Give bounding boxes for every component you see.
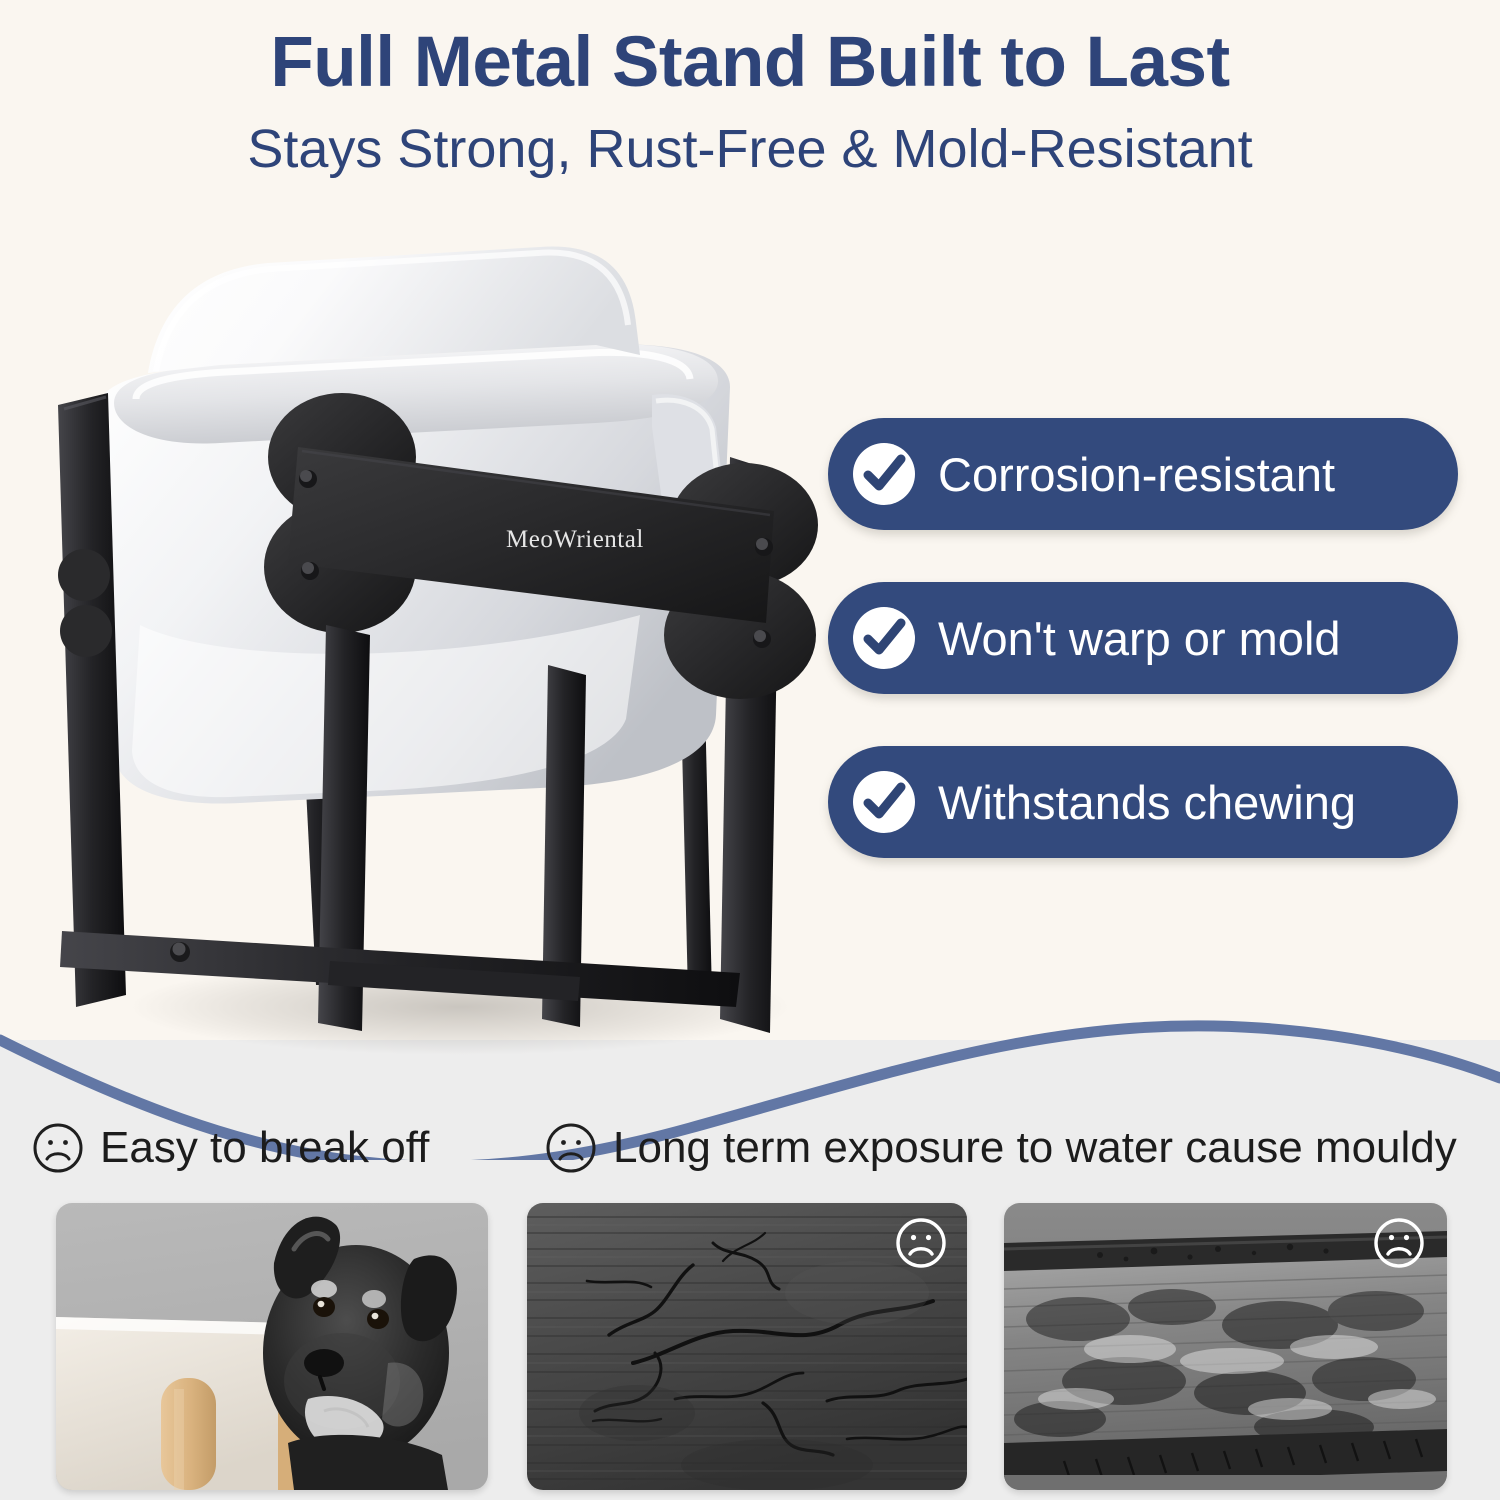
drawback-callout-label: Easy to break off — [100, 1123, 429, 1173]
check-icon — [852, 606, 916, 670]
drawback-callout-row: Easy to break off Long term exposure to … — [0, 1108, 1500, 1188]
drawback-callout-label: Long term exposure to water cause mouldy — [613, 1123, 1457, 1173]
feature-pill-label: Withstands chewing — [938, 775, 1356, 830]
dog-chewing-wooden-stand-photo — [56, 1203, 488, 1490]
feature-pill[interactable]: Corrosion-resistant — [828, 418, 1458, 530]
feature-pill[interactable]: Withstands chewing — [828, 746, 1458, 858]
mouldy-wood-photo — [1004, 1203, 1447, 1490]
check-icon — [852, 442, 916, 506]
cracked-wood-photo — [527, 1203, 967, 1490]
feature-pill[interactable]: Won't warp or mold — [828, 582, 1458, 694]
drawback-callout: Easy to break off — [32, 1108, 429, 1188]
sad-face-icon — [32, 1122, 84, 1174]
product-image: MeoWriental — [40, 195, 840, 1055]
feature-pill-label: Corrosion-resistant — [938, 447, 1335, 502]
feature-pill-label: Won't warp or mold — [938, 611, 1341, 666]
page-title: Full Metal Stand Built to Last — [0, 22, 1500, 103]
drawback-callout: Long term exposure to water cause mouldy — [545, 1108, 1457, 1188]
page-subtitle: Stays Strong, Rust-Free & Mold-Resistant — [0, 118, 1500, 180]
sad-face-icon — [545, 1122, 597, 1174]
feature-pill-list: Corrosion-resistant Won't warp or mold W… — [828, 418, 1458, 858]
infographic-page: Full Metal Stand Built to Last Stays Str… — [0, 0, 1500, 1500]
product-brand-label: MeoWriental — [506, 526, 644, 553]
check-icon — [852, 770, 916, 834]
